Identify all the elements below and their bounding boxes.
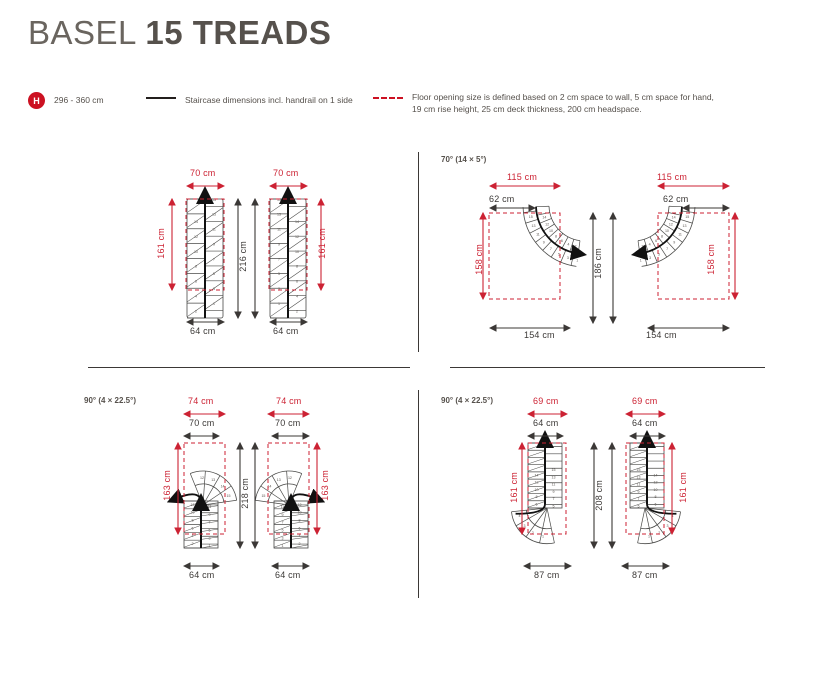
tread-number: 3 xyxy=(649,256,651,260)
stair-bl-left-walk-curve xyxy=(175,494,201,503)
tread-number: 7 xyxy=(213,257,215,261)
tread-number: 7 xyxy=(278,257,280,261)
stair-br-left-diag xyxy=(528,487,545,493)
dim-br-right-width: 87 cm xyxy=(632,570,658,580)
stair-bl-left-winder-radial xyxy=(190,473,203,505)
tread-number: 2 xyxy=(296,309,298,313)
stair-tr-left-radial-in xyxy=(578,241,580,254)
tread-number: 4 xyxy=(296,294,298,298)
divider-horizontal-left xyxy=(88,367,410,368)
tread-number: 11 xyxy=(281,505,285,509)
tread-number: 15 xyxy=(227,494,231,498)
tread-diagonal xyxy=(187,245,205,257)
stair-br-left-winder-radial xyxy=(511,508,547,512)
stair-br-left-diag xyxy=(528,473,545,479)
tread-number: 14 xyxy=(194,220,198,224)
tread-number: 14 xyxy=(267,484,271,488)
tread-diagonal xyxy=(270,245,288,257)
stair-tr-right-radial-out xyxy=(672,234,682,242)
stair-br-right-diag xyxy=(630,502,647,508)
tread-number: 10 xyxy=(549,229,553,233)
tread-number: 6 xyxy=(192,526,194,530)
tread-diagonal xyxy=(187,304,205,316)
stair-tr-right-radial-in xyxy=(638,241,640,254)
stair-bl-right-diag xyxy=(274,525,291,531)
stair-br-right-winder-radial xyxy=(638,508,645,543)
stair-br-right-winder-arc xyxy=(638,512,681,544)
tread-number: 14 xyxy=(542,216,546,220)
tread-number: 6 xyxy=(299,526,301,530)
tread-diagonal xyxy=(288,208,306,220)
dim-tl-left-total: 216 cm xyxy=(238,241,248,272)
stair-bl-left-diag xyxy=(184,525,201,531)
tread-number: 2 xyxy=(642,245,644,249)
tread-diagonal xyxy=(187,289,205,301)
divider-horizontal-right xyxy=(450,367,765,368)
tread-number: 12 xyxy=(669,223,673,227)
tread-number: 13 xyxy=(211,478,215,482)
dashed-line-icon xyxy=(373,97,403,99)
stair-tr-right-radial-in xyxy=(655,233,663,243)
tread-number: 11 xyxy=(536,233,540,237)
stair-br-left-diag xyxy=(528,465,545,471)
tread-number: 13 xyxy=(532,224,536,228)
stair-br-right-diag xyxy=(630,458,647,464)
stair-br-left-walk-curve xyxy=(516,504,545,514)
stair-bl-left-winder-radial xyxy=(203,500,237,505)
tread-diagonal xyxy=(205,267,223,279)
quadrant-heading-bottom-left: 90° (4 × 22.5°) xyxy=(84,396,136,405)
stair-outline xyxy=(270,199,306,318)
stair-bl-right-diag xyxy=(274,533,291,539)
stair-bl-left-diag xyxy=(201,521,218,523)
dim-tr-left-total: 186 cm xyxy=(593,248,603,279)
stair-bl-right-diag xyxy=(291,537,308,539)
tread-number: 11 xyxy=(277,228,281,232)
stair-br-right-winder-arc-inner xyxy=(641,510,666,529)
tread-diagonal xyxy=(288,252,306,264)
title-light: BASEL xyxy=(28,14,145,51)
stair-tr-left-radial-out xyxy=(523,211,536,213)
tread-number: 6 xyxy=(655,239,657,243)
stair-bl-right-diag xyxy=(291,514,308,516)
floor-opening-bl-left xyxy=(184,443,225,534)
tread-number: 10 xyxy=(191,511,195,515)
page-title: BASEL 15 TREADS xyxy=(28,14,331,52)
floor-opening-tl-left xyxy=(186,199,224,290)
tread-diagonal xyxy=(205,223,223,235)
title-bold: 15 TREADS xyxy=(145,14,331,51)
stair-br-right-winder-radial xyxy=(645,508,676,526)
stair-tr-right-radial-out xyxy=(652,250,657,262)
dim-tl-left-top: 70 cm xyxy=(190,168,216,178)
tread-number: 12 xyxy=(191,503,195,507)
stair-br-right-winder-radial xyxy=(645,508,681,512)
stair-bl-left-diag xyxy=(184,517,201,523)
stair-tr-right-radial-out xyxy=(660,246,667,257)
tread-number: 9 xyxy=(209,513,211,517)
legend-item-height: H 296 - 360 cm xyxy=(28,92,104,109)
tread-number: 9 xyxy=(543,240,545,244)
tread-number: 14 xyxy=(672,216,676,220)
tread-number: 8 xyxy=(661,234,663,238)
quadrant-heading-bottom-right: 90° (4 × 22.5°) xyxy=(441,396,493,405)
stair-br-left-diag xyxy=(528,494,545,500)
dim-br-right-opening: 69 cm xyxy=(632,396,658,406)
tread-number: 1 xyxy=(213,302,215,306)
stair-bl-right-diag xyxy=(274,510,291,516)
dim-tr-right-height: 158 cm xyxy=(706,244,716,275)
tread-number: 4 xyxy=(192,534,194,538)
tread-number: 6 xyxy=(296,280,298,284)
stair-tr-left-radial-out xyxy=(526,219,538,223)
stair-bl-left-winder-radial xyxy=(203,471,205,505)
tread-number: 14 xyxy=(654,473,658,477)
stair-bl-left-diag xyxy=(184,510,201,516)
tread-number: 4 xyxy=(649,242,651,246)
stair-tr-right-radial-out xyxy=(677,227,689,233)
tread-diagonal xyxy=(205,208,223,220)
floor-opening-tl-right xyxy=(269,199,307,290)
tread-diagonal xyxy=(187,230,205,242)
stair-bl-left-diag xyxy=(201,529,218,531)
stair-bl-left-winder-arc-inner xyxy=(195,484,224,502)
tread-diagonal xyxy=(270,230,288,242)
tread-number: 7 xyxy=(553,497,555,501)
stair-br-right-body xyxy=(630,443,664,508)
stair-tr-right-radial-out xyxy=(666,241,675,251)
tread-number: 4 xyxy=(671,514,673,518)
stair-br-left-winder-arc xyxy=(511,512,554,544)
stair-tr-left-arc xyxy=(523,207,576,266)
stair-bl-right-diag xyxy=(291,529,308,531)
tread-number: 3 xyxy=(209,536,211,540)
dim-tr-right-opening: 115 cm xyxy=(657,172,687,182)
dim-br-left-height: 161 cm xyxy=(509,472,519,503)
floor-opening-bl-right xyxy=(268,443,309,534)
tread-number: 3 xyxy=(282,536,284,540)
tread-number: 10 xyxy=(194,250,198,254)
stair-br-right-diag xyxy=(630,444,647,450)
tread-number: 1 xyxy=(209,544,211,548)
stair-br-left-winder-radial xyxy=(516,508,547,526)
stair-br-right-diag xyxy=(630,465,647,471)
tread-number: 13 xyxy=(682,224,686,228)
tread-number: 4 xyxy=(195,294,197,298)
dim-tr-right-top: 62 cm xyxy=(663,194,689,204)
tread-number: 2 xyxy=(195,309,197,313)
tread-number: 3 xyxy=(278,287,280,291)
tread-number: 9 xyxy=(638,490,640,494)
tread-number: 9 xyxy=(213,242,215,246)
tread-number: 13 xyxy=(212,213,216,217)
tread-diagonal xyxy=(205,252,223,264)
tread-diagonal xyxy=(187,200,205,212)
stair-br-left-diag xyxy=(528,451,545,457)
stair-bl-right-winder-radial xyxy=(261,486,289,505)
tread-diagonal xyxy=(270,260,288,272)
dim-bl-right-width: 64 cm xyxy=(275,570,301,580)
tread-number: 12 xyxy=(654,481,658,485)
tread-number: 10 xyxy=(665,229,669,233)
dim-bl-left-opening: 74 cm xyxy=(188,396,214,406)
tread-number: 11 xyxy=(552,483,556,487)
tread-number: 10 xyxy=(295,250,299,254)
dim-bl-right-height: 163 cm xyxy=(320,470,330,501)
stair-tr-left-arc xyxy=(549,206,580,240)
stair-bl-right-winder-radial xyxy=(272,476,289,505)
stair-br-left-diag xyxy=(528,444,545,450)
tread-number: 15 xyxy=(212,198,216,202)
stair-br-left-winder-radial xyxy=(540,508,547,543)
dim-tr-left-top: 62 cm xyxy=(489,194,515,204)
floor-opening-tr-left xyxy=(489,213,560,299)
tread-number: 1 xyxy=(542,535,544,539)
tread-number: 9 xyxy=(673,240,675,244)
stair-tr-right-radial-out xyxy=(682,211,695,213)
stair-tr-right-radial-in xyxy=(666,218,678,223)
tread-number: 11 xyxy=(212,228,216,232)
tread-diagonal xyxy=(270,215,288,227)
stair-br-right-winder-radial xyxy=(645,508,652,543)
dim-br-left-top: 64 cm xyxy=(533,418,559,428)
dim-br-right-height: 161 cm xyxy=(678,472,688,503)
stair-tr-left-midarc xyxy=(536,207,578,254)
sheet-root: BASEL 15 TREADS H 296 - 360 cm Staircase… xyxy=(0,0,815,687)
legend-floor-opening-label: Floor opening size is defined based on 2… xyxy=(412,92,714,115)
stair-tr-left-radial-in xyxy=(555,233,563,243)
tread-number: 13 xyxy=(277,478,281,482)
tread-number: 2 xyxy=(192,542,194,546)
tread-number: 5 xyxy=(558,252,560,256)
tread-number: 8 xyxy=(299,519,301,523)
tread-number: 15 xyxy=(277,198,281,202)
stair-tr-right-midarc xyxy=(640,207,682,254)
tread-number: 8 xyxy=(192,519,194,523)
stair-bl-right-diag xyxy=(274,502,291,508)
tread-number: 9 xyxy=(553,490,555,494)
stair-tr-right-radial-out xyxy=(680,219,692,223)
legend-height-label: 296 - 360 cm xyxy=(54,95,104,107)
tread-number: 2 xyxy=(574,245,576,249)
tread-number: 7 xyxy=(209,521,211,525)
tread-number: 12 xyxy=(298,503,302,507)
dim-tl-left-width: 64 cm xyxy=(190,326,216,336)
stair-bl-right-diag xyxy=(274,541,291,547)
tread-number: 2 xyxy=(532,531,534,535)
stair-bl-right-diag xyxy=(274,517,291,523)
stair-tr-right-radial-in xyxy=(664,224,675,231)
stair-br-right-diag xyxy=(630,473,647,479)
tread-number: 6 xyxy=(195,280,197,284)
dim-bl-left-top: 70 cm xyxy=(189,418,215,428)
stair-bl-left-winder-radial xyxy=(203,486,231,505)
stair-tr-right-radial-in xyxy=(660,229,670,238)
tread-number: 8 xyxy=(555,234,557,238)
dim-tl-right-top: 70 cm xyxy=(273,168,299,178)
tread-number: 6 xyxy=(655,502,657,506)
tread-number: 12 xyxy=(295,235,299,239)
stair-br-left-diag xyxy=(528,480,545,486)
stair-tr-left-radial-in xyxy=(570,239,574,251)
tread-number: 1 xyxy=(640,258,642,262)
tread-number: 3 xyxy=(667,524,669,528)
stair-bl-right-winder-arc-inner xyxy=(268,484,297,502)
tread-diagonal xyxy=(205,282,223,294)
stair-tr-right-walking-line xyxy=(640,207,682,254)
stair-bl-left-winder-radial xyxy=(203,476,220,505)
stair-tr-left-radial-in xyxy=(562,237,568,248)
tread-number: 6 xyxy=(561,239,563,243)
tread-number: 8 xyxy=(536,495,538,499)
legend-staircase-label: Staircase dimensions incl. handrail on 1… xyxy=(185,95,353,107)
tread-number: 2 xyxy=(299,542,301,546)
tread-number: 3 xyxy=(567,256,569,260)
tread-diagonal xyxy=(270,304,288,316)
stair-tr-left-walking-line xyxy=(536,207,578,254)
tread-number: 14 xyxy=(221,484,225,488)
tread-number: 15 xyxy=(261,494,265,498)
floor-opening-tr-right xyxy=(658,213,729,299)
stair-bl-left-diag xyxy=(201,545,218,548)
stair-bl-left-winder-arc xyxy=(190,471,236,500)
dim-bl-left-total: 218 cm xyxy=(240,478,250,509)
tread-number: 11 xyxy=(678,233,682,237)
tread-number: 10 xyxy=(535,488,539,492)
floor-opening-br-left xyxy=(528,443,566,534)
tread-diagonal xyxy=(270,200,288,212)
stair-tr-left-radial-out xyxy=(530,227,542,233)
tread-number: 8 xyxy=(296,265,298,269)
tread-diagonal xyxy=(270,289,288,301)
stair-bl-right-body xyxy=(274,501,308,548)
tread-number: 14 xyxy=(535,473,539,477)
stair-tr-left-radial-in xyxy=(549,229,559,238)
stair-tr-left-radial-out xyxy=(543,241,552,251)
tread-number: 8 xyxy=(195,265,197,269)
stair-tr-left-radial-out xyxy=(551,246,558,257)
stair-br-right-diag xyxy=(630,487,647,493)
tread-diagonal xyxy=(270,275,288,287)
tread-number: 8 xyxy=(655,495,657,499)
stair-bl-right-diag xyxy=(291,545,308,548)
tread-number: 3 xyxy=(213,287,215,291)
tread-number: 4 xyxy=(299,534,301,538)
tread-diagonal xyxy=(187,215,205,227)
stair-br-left-winder-radial xyxy=(526,508,547,537)
tread-diagonal xyxy=(187,275,205,287)
tread-diagonal xyxy=(288,297,306,309)
tread-diagonal xyxy=(288,282,306,294)
tread-number: 12 xyxy=(545,223,549,227)
stair-tr-left-radial-out xyxy=(571,253,574,266)
tread-number: 11 xyxy=(208,505,212,509)
stair-bl-right-winder-radial xyxy=(287,471,289,505)
quadrant-heading-top-right: 70° (14 × 5°) xyxy=(441,155,486,164)
dim-bl-right-opening: 74 cm xyxy=(276,396,302,406)
tread-number: 6 xyxy=(536,502,538,506)
tread-number: 12 xyxy=(535,481,539,485)
legend-item-floor-opening: Floor opening size is defined based on 2… xyxy=(373,92,714,115)
stair-bl-right-winder-radial xyxy=(255,500,289,505)
dim-br-right-top: 64 cm xyxy=(632,418,658,428)
stair-br-right-diag xyxy=(630,494,647,500)
tread-number: 12 xyxy=(288,476,292,480)
dim-tl-right-height: 161 cm xyxy=(317,228,327,259)
divider-vertical-top xyxy=(418,152,419,352)
stair-bl-left-diag xyxy=(201,537,218,539)
stair-bl-right-walk-curve xyxy=(291,494,317,503)
stair-bl-left-diag xyxy=(184,502,201,508)
tread-number: 1 xyxy=(278,302,280,306)
floor-opening-br-right xyxy=(626,443,664,534)
tread-number: 5 xyxy=(553,504,555,508)
solid-line-icon xyxy=(146,97,176,99)
stair-tr-left-radial-in xyxy=(540,218,552,223)
tread-number: 1 xyxy=(648,535,650,539)
stair-tr-left-radial-in xyxy=(543,224,554,231)
stair-br-left-diag xyxy=(528,502,545,508)
stair-tr-right-arc xyxy=(638,206,669,240)
stair-bl-left-diag xyxy=(184,541,201,547)
tread-number: 13 xyxy=(637,475,641,479)
stair-br-left-body xyxy=(528,443,562,508)
stair-tr-right-radial-out xyxy=(644,253,647,266)
dim-tl-left-height: 161 cm xyxy=(156,228,166,259)
tread-number: 4 xyxy=(519,514,521,518)
tread-diagonal xyxy=(187,260,205,272)
dim-tl-right-width: 64 cm xyxy=(273,326,299,336)
tread-number: 15 xyxy=(529,215,533,219)
legend-item-staircase-dims: Staircase dimensions incl. handrail on 1… xyxy=(146,92,353,107)
height-badge-icon: H xyxy=(28,92,45,109)
stair-tr-right-radial-in xyxy=(650,237,656,248)
tread-number: 1 xyxy=(576,258,578,262)
stair-br-left-winder-radial xyxy=(547,508,554,543)
stair-bl-right-diag xyxy=(291,506,308,508)
tread-diagonal xyxy=(205,297,223,309)
stair-br-left-winder-arc-inner xyxy=(526,510,551,529)
tread-number: 1 xyxy=(282,544,284,548)
stair-br-right-walk-curve xyxy=(647,504,676,514)
dim-br-left-total: 208 cm xyxy=(594,480,604,511)
divider-vertical-bottom xyxy=(418,390,419,598)
dim-bl-left-width: 64 cm xyxy=(189,570,215,580)
tread-number: 10 xyxy=(298,511,302,515)
tread-number: 11 xyxy=(637,483,641,487)
stair-tr-right-arc xyxy=(642,207,695,266)
dim-bl-left-height: 163 cm xyxy=(162,470,172,501)
stair-br-right-winder-radial xyxy=(645,508,666,537)
tread-number: 5 xyxy=(209,529,211,533)
stair-br-left-diag xyxy=(528,458,545,464)
tread-diagonal xyxy=(205,237,223,249)
dim-bl-right-top: 70 cm xyxy=(275,418,301,428)
tread-diagonal xyxy=(288,223,306,235)
tread-number: 13 xyxy=(277,213,281,217)
dim-br-left-width: 87 cm xyxy=(534,570,560,580)
tread-number: 9 xyxy=(282,513,284,517)
stair-bl-right-winder-radial xyxy=(289,473,302,505)
stair-tr-right-radial-in xyxy=(644,239,648,251)
tread-number: 5 xyxy=(213,272,215,276)
stair-tr-right-radial-in xyxy=(668,212,681,215)
stair-bl-right-winder-arc xyxy=(255,471,301,500)
tread-number: 14 xyxy=(295,220,299,224)
tread-diagonal xyxy=(288,267,306,279)
stair-tr-left-radial-out xyxy=(535,234,545,242)
tread-number: 15 xyxy=(637,468,641,472)
